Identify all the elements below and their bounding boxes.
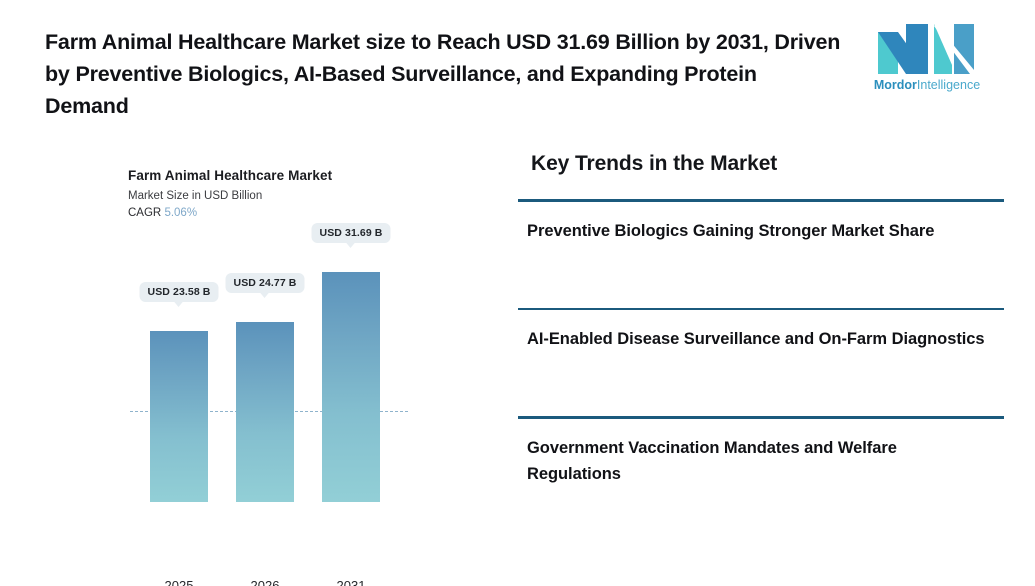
trend-text: Preventive Biologics Gaining Stronger Ma… — [518, 202, 988, 244]
brand-word-mordor: Mordor — [874, 78, 917, 92]
header: Farm Animal Healthcare Market size to Re… — [0, 0, 1035, 128]
chart-panel: Farm Animal Healthcare Market Market Siz… — [128, 168, 428, 558]
chart-cagr: CAGR 5.06% — [128, 207, 428, 219]
chart-title: Farm Animal Healthcare Market — [128, 168, 428, 183]
mordor-m-logo-icon — [876, 20, 976, 74]
bar-2031 — [322, 272, 380, 502]
key-trends-title: Key Trends in the Market — [518, 152, 1004, 176]
bar-value-badge: USD 23.58 B — [140, 282, 219, 302]
trend-item-1: Preventive Biologics Gaining Stronger Ma… — [518, 199, 1004, 244]
page-title: Farm Animal Healthcare Market size to Re… — [45, 26, 845, 122]
chart-plot-area: USD 23.58 B USD 24.77 B USD 31.69 B 2025… — [128, 240, 428, 502]
x-axis-labels: 2025 2026 2031 — [128, 578, 428, 586]
trend-text: Government Vaccination Mandates and Welf… — [518, 419, 988, 487]
chart-subtitle: Market Size in USD Billion — [128, 190, 428, 202]
brand-logo: MordorIntelligence — [868, 20, 993, 102]
cagr-label: CAGR — [128, 207, 161, 219]
bar-series: USD 23.58 B USD 24.77 B USD 31.69 B — [128, 240, 428, 502]
bar-2026 — [236, 322, 294, 502]
poster-canvas: Farm Animal Healthcare Market size to Re… — [0, 0, 1035, 586]
trend-item-3: Government Vaccination Mandates and Welf… — [518, 416, 1004, 487]
brand-wordmark: MordorIntelligence — [868, 78, 986, 92]
bar-value-badge: USD 24.77 B — [226, 273, 305, 293]
bar-value-badge: USD 31.69 B — [312, 223, 391, 243]
brand-word-intelligence: Intelligence — [917, 78, 980, 92]
trend-text: AI-Enabled Disease Surveillance and On-F… — [518, 310, 988, 352]
spacer — [518, 244, 1004, 308]
x-label-2025: 2025 — [150, 578, 208, 586]
bar-column-2026: USD 24.77 B — [236, 322, 294, 502]
bar-column-2025: USD 23.58 B — [150, 331, 208, 502]
cagr-value: 5.06% — [164, 207, 197, 219]
x-label-2026: 2026 — [236, 578, 294, 586]
trend-item-2: AI-Enabled Disease Surveillance and On-F… — [518, 308, 1004, 353]
bar-2025 — [150, 331, 208, 502]
x-label-2031: 2031 — [322, 578, 380, 586]
key-trends-panel: Key Trends in the Market Preventive Biol… — [518, 152, 1004, 487]
bar-column-2031: USD 31.69 B — [322, 272, 380, 502]
spacer — [518, 352, 1004, 416]
